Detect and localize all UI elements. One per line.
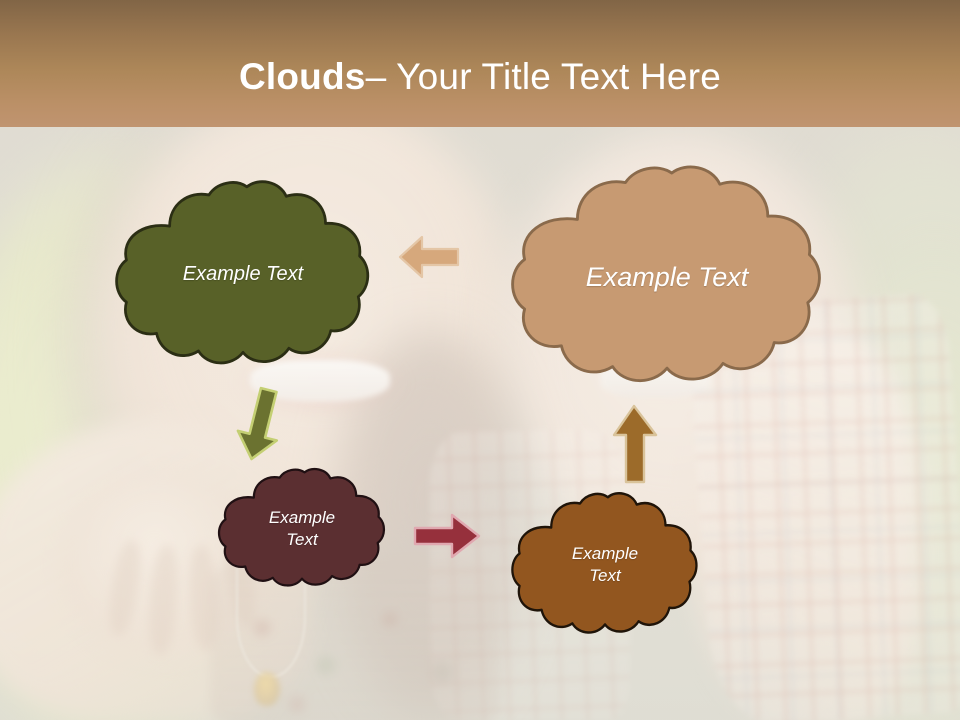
cloud-label-tan: Example Text xyxy=(586,260,749,295)
cloud-label-green: Example Text xyxy=(183,262,303,288)
arrow-up-icon[interactable] xyxy=(607,403,661,485)
slide-canvas: Clouds – Your Title Text Here Example Te… xyxy=(0,0,960,720)
arrow-left-icon[interactable] xyxy=(398,231,460,283)
cloud-label-maroon: Example Text xyxy=(269,507,335,551)
page-title-bold: Clouds xyxy=(239,56,366,98)
cloud-shape-green[interactable]: Example Text xyxy=(112,180,374,370)
arrow-right-icon[interactable] xyxy=(412,508,482,564)
cloud-shape-maroon[interactable]: Example Text xyxy=(216,468,388,590)
cloud-shape-brown[interactable]: Example Text xyxy=(509,492,701,638)
page-title: Clouds – Your Title Text Here xyxy=(0,0,960,127)
cloud-label-brown: Example Text xyxy=(572,543,638,587)
arrow-down-icon[interactable] xyxy=(231,386,289,464)
page-title-rest: – Your Title Text Here xyxy=(366,56,721,98)
cloud-shape-tan[interactable]: Example Text xyxy=(507,165,827,389)
